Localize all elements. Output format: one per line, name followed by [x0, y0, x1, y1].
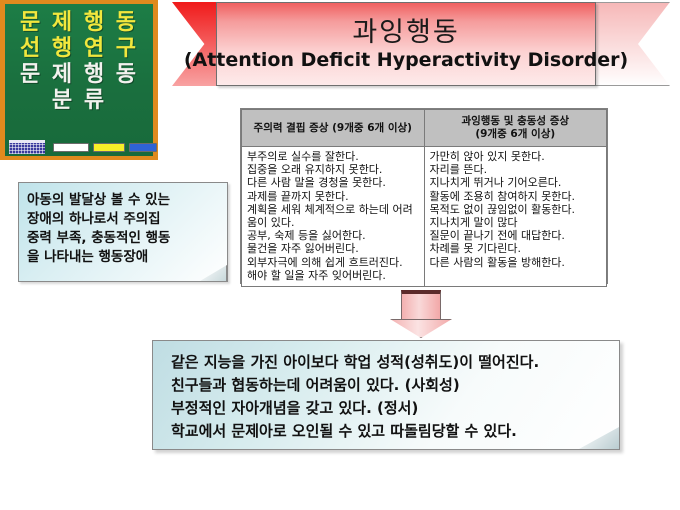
chalkboard-surface: 문 제 행 동 선 행 연 구 문 제 행 동 분 류 — [5, 4, 153, 156]
column-header-hyperactivity-line2: (9개중 6개 이상) — [475, 128, 555, 140]
column-header-inattention: 주의력 결핍 증상 (9개중 6개 이상) — [242, 110, 425, 147]
down-arrow-icon — [390, 290, 452, 338]
list-item: 집중을 오래 유지하지 못한다. — [247, 163, 420, 176]
list-item: 목적도 없이 끊임없이 활동한다. — [430, 203, 603, 216]
symptom-table: 주의력 결핍 증상 (9개중 6개 이상) 과잉행동 및 충동성 증상 (9개중… — [240, 108, 608, 284]
arrow-shaft — [401, 290, 441, 320]
column-header-hyperactivity-line1: 과잉행동 및 충동성 증상 — [461, 115, 569, 127]
list-item: 외부자극에 의해 쉽게 흐트러진다. — [247, 256, 420, 269]
symptom-table-head: 주의력 결핍 증상 (9개중 6개 이상) 과잉행동 및 충동성 증상 (9개중… — [242, 110, 607, 147]
chalk-white-icon — [53, 143, 89, 152]
list-item: 부주의로 실수를 잘한다. — [247, 150, 420, 163]
chalkboard-graphic: 문 제 행 동 선 행 연 구 문 제 행 동 분 류 — [0, 0, 158, 160]
conclusion-box: 같은 지능을 가진 아이보다 학업 성적(성취도)이 떨어진다. 친구들과 협동… — [152, 340, 620, 450]
list-item: 과제를 끝까지 못한다. — [247, 190, 420, 203]
cell-hyperactivity-symptoms: 가만히 앉아 있지 못한다. 자리를 뜬다. 지나치게 뛰거나 기어오른다. 활… — [424, 147, 607, 287]
eraser-icon — [9, 140, 45, 154]
list-item: 가만히 앉아 있지 못한다. — [430, 150, 603, 163]
chalkboard-line-2: 선 행 연 구 — [20, 36, 138, 62]
definition-line-2: 장애의 하나로서 주의집 — [27, 210, 221, 229]
list-item: 다른 사람 말을 경청을 못한다. — [247, 176, 420, 189]
ribbon-subtitle: (Attention Deficit Hyperactivity Disorde… — [184, 49, 628, 71]
table-header-row: 주의력 결핍 증상 (9개중 6개 이상) 과잉행동 및 충동성 증상 (9개중… — [242, 110, 607, 147]
conclusion-line-4: 학교에서 문제아로 오인될 수 있고 따돌림당할 수 있다. — [171, 420, 607, 443]
list-item: 계획을 세워 체계적으로 하는데 어려움이 있다. — [247, 203, 420, 229]
folded-corner-icon — [200, 265, 227, 281]
arrow-head-outline — [390, 319, 452, 338]
symptom-table-body: 부주의로 실수를 잘한다. 집중을 오래 유지하지 못한다. 다른 사람 말을 … — [242, 147, 607, 287]
list-item: 활동에 조용히 참여하지 못한다. — [430, 190, 603, 203]
conclusion-line-1: 같은 지능을 가진 아이보다 학업 성적(성취도)이 떨어진다. — [171, 351, 607, 374]
title-ribbon-banner: 과잉행동 (Attention Deficit Hyperactivity Di… — [170, 2, 680, 90]
list-item: 해야 할 일을 자주 잊어버린다. — [247, 269, 420, 282]
cell-inattention-symptoms: 부주의로 실수를 잘한다. 집중을 오래 유지하지 못한다. 다른 사람 말을 … — [242, 147, 425, 287]
definition-callout-box: 아동의 발달상 볼 수 있는 장애의 하나로서 주의집 중력 부족, 충동적인 … — [18, 182, 228, 282]
symptom-table-grid: 주의력 결핍 증상 (9개중 6개 이상) 과잉행동 및 충동성 증상 (9개중… — [241, 109, 607, 287]
chalkboard-line-4: 분 류 — [52, 88, 106, 114]
chalk-tray — [5, 140, 153, 154]
definition-line-4: 을 나타내는 행동장애 — [27, 248, 221, 267]
list-item: 자리를 뜬다. — [430, 163, 603, 176]
list-item: 차례를 못 기다린다. — [430, 242, 603, 255]
inattention-symptom-list: 부주의로 실수를 잘한다. 집중을 오래 유지하지 못한다. 다른 사람 말을 … — [247, 150, 420, 282]
list-item: 다른 사람의 활동을 방해한다. — [430, 256, 603, 269]
hyperactivity-symptom-list: 가만히 앉아 있지 못한다. 자리를 뜬다. 지나치게 뛰거나 기어오른다. 활… — [430, 150, 603, 269]
list-item: 물건을 자주 잃어버린다. — [247, 242, 420, 255]
list-item: 지나치게 뛰거나 기어오른다. — [430, 176, 603, 189]
table-row: 부주의로 실수를 잘한다. 집중을 오래 유지하지 못한다. 다른 사람 말을 … — [242, 147, 607, 287]
ribbon-tail-right — [590, 2, 670, 86]
chalk-blue-icon — [129, 143, 157, 152]
list-item: 지나치게 말이 많다 — [430, 216, 603, 229]
column-header-hyperactivity: 과잉행동 및 충동성 증상 (9개중 6개 이상) — [424, 110, 607, 147]
ribbon-body: 과잉행동 (Attention Deficit Hyperactivity Di… — [216, 2, 596, 86]
definition-line-3: 중력 부족, 충동적인 행동 — [27, 229, 221, 248]
ribbon-title: 과잉행동 — [352, 17, 459, 48]
chalk-yellow-icon — [93, 143, 125, 152]
slide-canvas: 문 제 행 동 선 행 연 구 문 제 행 동 분 류 과잉행동 (Attent… — [0, 0, 680, 510]
conclusion-line-2: 친구들과 협동하는데 어려움이 있다. (사회성) — [171, 374, 607, 397]
conclusion-line-3: 부정적인 자아개념을 갖고 있다. (정서) — [171, 397, 607, 420]
chalkboard-line-3: 문 제 행 동 — [20, 62, 138, 88]
definition-line-1: 아동의 발달상 볼 수 있는 — [27, 191, 221, 210]
list-item: 질문이 끝나기 전에 대답한다. — [430, 229, 603, 242]
list-item: 공부, 숙제 등을 싫어한다. — [247, 229, 420, 242]
chalkboard-line-1: 문 제 행 동 — [20, 10, 138, 36]
